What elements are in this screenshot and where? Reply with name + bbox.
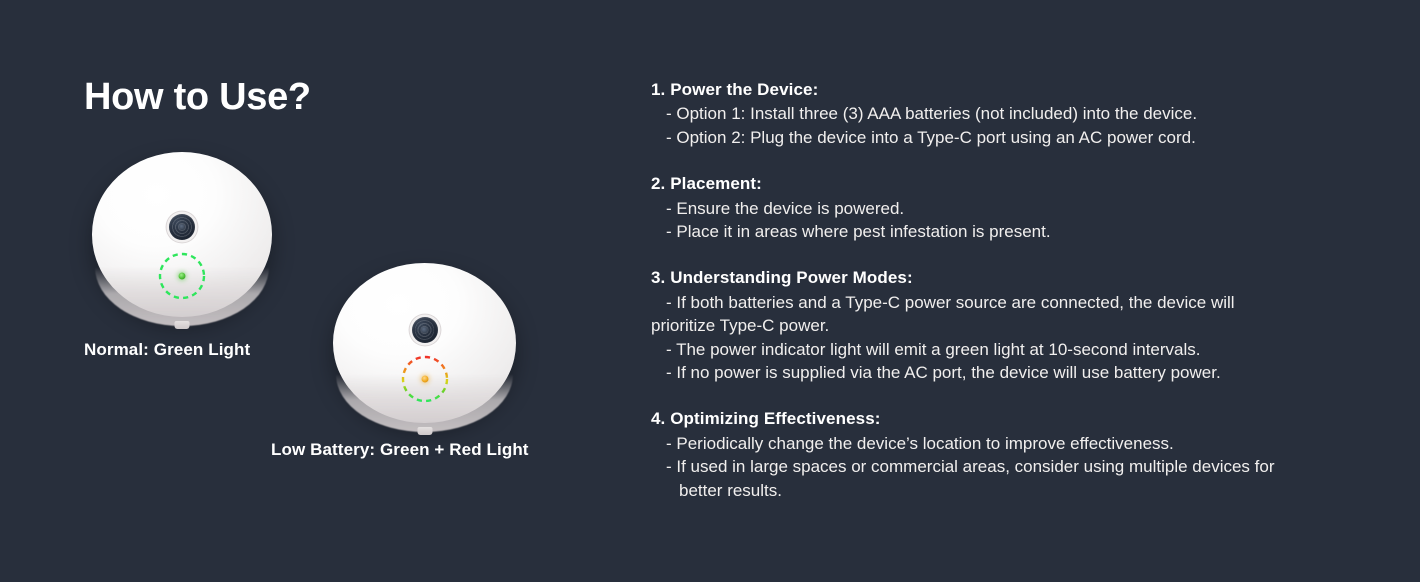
- instruction-step-3: 3. Understanding Power Modes: - If both …: [651, 266, 1351, 384]
- step-line: - Ensure the device is powered.: [651, 197, 1351, 220]
- led-dot-amber: [421, 376, 428, 383]
- device-puck: [333, 263, 516, 433]
- instruction-step-1: 1. Power the Device: - Option 1: Install…: [651, 78, 1351, 149]
- device-figure-low-battery: [333, 263, 516, 433]
- step-line: - Option 2: Plug the device into a Type-…: [651, 126, 1351, 149]
- step-line: - Place it in areas where pest infestati…: [651, 220, 1351, 243]
- device-puck: [92, 152, 272, 327]
- led-indicator-annotation-green: [158, 252, 206, 300]
- step-line: - If used in large spaces or commercial …: [651, 455, 1351, 478]
- step-line-continuation: better results.: [651, 479, 1351, 502]
- instruction-slide: How to Use? Normal: Green Light: [0, 0, 1420, 582]
- step-heading: 2. Placement:: [651, 172, 1351, 195]
- device-figure-normal: [92, 152, 272, 327]
- device-caption-low-battery: Low Battery: Green + Red Light: [271, 440, 529, 460]
- device-caption-normal: Normal: Green Light: [84, 340, 250, 360]
- page-title: How to Use?: [84, 76, 311, 119]
- step-heading: 4. Optimizing Effectiveness:: [651, 407, 1351, 430]
- step-line-continuation: prioritize Type-C power.: [651, 314, 1351, 337]
- step-line: - If no power is supplied via the AC por…: [651, 361, 1351, 384]
- step-line: - If both batteries and a Type-C power s…: [651, 291, 1351, 314]
- step-line: - Periodically change the device’s locat…: [651, 432, 1351, 455]
- led-dot-green: [179, 273, 186, 280]
- step-line: - The power indicator light will emit a …: [651, 338, 1351, 361]
- instruction-step-2: 2. Placement: - Ensure the device is pow…: [651, 172, 1351, 243]
- sensor-grille-icon: [169, 214, 195, 240]
- instructions-list: 1. Power the Device: - Option 1: Install…: [651, 78, 1351, 502]
- device-foot-tab: [417, 427, 432, 435]
- step-heading: 3. Understanding Power Modes:: [651, 266, 1351, 289]
- led-indicator-annotation-gradient: [401, 355, 449, 403]
- instruction-step-4: 4. Optimizing Effectiveness: - Periodica…: [651, 407, 1351, 502]
- step-line: - Option 1: Install three (3) AAA batter…: [651, 102, 1351, 125]
- sensor-grille-icon: [412, 317, 438, 343]
- step-heading: 1. Power the Device:: [651, 78, 1351, 101]
- device-foot-tab: [175, 321, 190, 329]
